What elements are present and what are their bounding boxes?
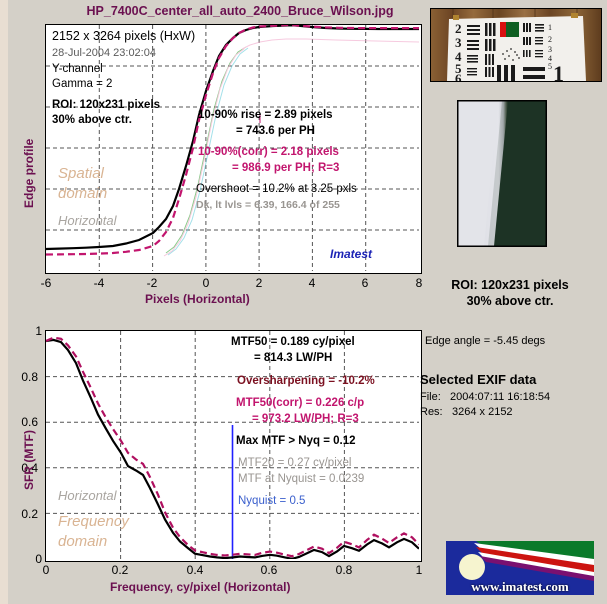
rise-annotation-1: 10-90% rise = 2.89 pixels — [198, 109, 333, 121]
svg-text:1: 1 — [553, 61, 564, 81]
nyquist-annotation: Nyquist = 0.5 — [238, 495, 305, 507]
sfr-orientation-label: Horizontal — [58, 488, 117, 503]
mtf50-annotation-1: MTF50 = 0.189 cy/pixel — [231, 336, 355, 348]
edge-xtick-2: 2 — [244, 276, 274, 290]
edge-yaxis-title: Edge profile — [22, 139, 36, 208]
page-title: HP_7400C_center_all_auto_2400_Bruce_Wils… — [60, 4, 420, 18]
test-chart-thumbnail: 2 3 4 5 6 — [430, 8, 602, 82]
sfr-xtick-0.6: 0.6 — [254, 563, 284, 577]
mtf50corr-annotation-1: MTF50(corr) = 0.226 c/p — [236, 397, 364, 409]
exif-file-value: 2004:07:11 16:18:54 — [450, 391, 550, 403]
edge-xtick--2: -2 — [137, 276, 167, 290]
svg-text:3: 3 — [455, 35, 462, 50]
frequency-domain-label-1: Frequency — [58, 513, 129, 530]
edge-orientation-label: Horizontal — [58, 213, 117, 228]
mtf20-annotation: MTF20 = 0.27 cy/pixel — [238, 457, 351, 469]
sfr-xtick-0.4: 0.4 — [180, 563, 210, 577]
edge-xtick-4: 4 — [297, 276, 327, 290]
edge-channel-text: Y-channel — [52, 63, 103, 75]
svg-text:2: 2 — [548, 35, 552, 44]
roi-caption-line2: 30% above ctr. — [420, 294, 600, 308]
roi-caption-line1: ROI: 120x231 pixels — [420, 278, 600, 292]
roi-crop-image — [457, 100, 547, 247]
mtf50corr-annotation-2: = 973.2 LW/PH; R=3 — [252, 413, 359, 425]
roi-marker-red — [500, 22, 506, 37]
corr-annotation-2: = 986.9 per PH; R=3 — [232, 162, 339, 174]
sfr-yaxis-title: SFR (MTF) — [22, 430, 36, 490]
spatial-domain-label-1: Spatial — [58, 165, 104, 182]
svg-text:6: 6 — [455, 71, 462, 81]
frequency-domain-label-2: domain — [58, 533, 107, 550]
edge-timestamp-text: 28-Jul-2004 23:02:04 — [52, 47, 156, 59]
svg-text:2: 2 — [455, 21, 462, 36]
edge-roi-sub-text: 30% above ctr. — [52, 114, 132, 126]
exif-file-label: File: — [420, 391, 441, 403]
spatial-domain-label-2: domain — [58, 185, 107, 202]
levels-annotation: Dk, lt lvls = 6.39, 166.4 of 255 — [196, 199, 340, 211]
sfr-plot: MTF50 = 0.189 cy/pixel = 814.3 LW/PH Ove… — [45, 330, 422, 562]
exif-res-value: 3264 x 2152 — [452, 406, 513, 418]
sfr-ytick-1: 1 — [12, 324, 42, 338]
mtf50-annotation-2: = 814.3 LW/PH — [254, 352, 332, 364]
svg-text:3: 3 — [548, 45, 552, 54]
roi-marker-green — [506, 22, 519, 37]
logo-url-text: www.imatest.com — [446, 579, 594, 595]
mtf-at-nyquist-annotation: MTF at Nyquist = 0.0239 — [238, 473, 364, 485]
imatest-watermark: Imatest — [330, 247, 372, 261]
sfr-xtick-0.2: 0.2 — [105, 563, 135, 577]
left-edge-strip — [0, 0, 8, 604]
sfr-xtick-1: 1 — [404, 563, 434, 577]
overshoot-annotation: Overshoot = 10.2% at 3.25 pxls — [196, 183, 357, 195]
edge-xaxis-title: Pixels (Horizontal) — [145, 292, 250, 306]
sfr-xtick-0.8: 0.8 — [329, 563, 359, 577]
sfr-xtick-0: 0 — [31, 563, 61, 577]
exif-heading: Selected EXIF data — [420, 372, 536, 387]
edge-gamma-text: Gamma = 2 — [52, 78, 112, 90]
imatest-sfr-window: HP_7400C_center_all_auto_2400_Bruce_Wils… — [0, 0, 607, 604]
imatest-logo[interactable]: www.imatest.com — [446, 541, 594, 595]
edge-xtick--4: -4 — [84, 276, 114, 290]
svg-text:1: 1 — [548, 23, 552, 32]
sfr-ytick-0.8: 0.8 — [8, 370, 38, 384]
edge-xtick-0: 0 — [191, 276, 221, 290]
sfr-ytick-0.6: 0.6 — [8, 415, 38, 429]
sfr-ytick-0.2: 0.2 — [8, 507, 38, 521]
corr-annotation-1: 10-90%(corr) = 2.18 pixels — [198, 146, 339, 158]
edge-profile-plot: 2152 x 3264 pixels (HxW) 28-Jul-2004 23:… — [45, 24, 422, 274]
max-mtf-nyq-annotation: Max MTF > Nyq = 0.12 — [236, 435, 356, 447]
oversharpening-annotation: Oversharpening = -10.2% — [237, 375, 375, 387]
edge-angle-text: Edge angle = -5.45 degs — [425, 335, 545, 347]
exif-res-label: Res: — [420, 406, 443, 418]
sfr-xaxis-title: Frequency, cy/pixel (Horizontal) — [110, 580, 290, 594]
edge-dimensions-text: 2152 x 3264 pixels (HxW) — [52, 29, 195, 43]
svg-text:5: 5 — [548, 62, 552, 71]
edge-xtick--6: -6 — [31, 276, 61, 290]
edge-xtick-6: 6 — [350, 276, 380, 290]
edge-roi-text: ROI: 120x231 pixels — [52, 99, 160, 111]
rise-annotation-2: = 743.6 per PH — [236, 125, 315, 137]
